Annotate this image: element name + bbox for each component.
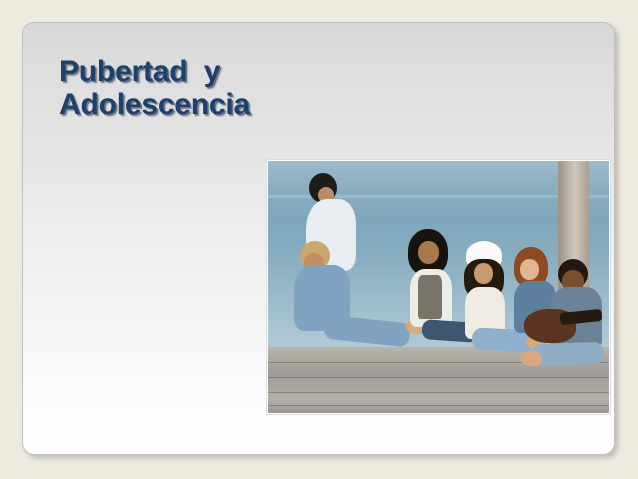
- foot: [520, 351, 542, 366]
- leg: [532, 342, 605, 366]
- face: [474, 263, 493, 284]
- title-line-1: Pubertad y: [59, 55, 479, 88]
- dock-plank: [268, 377, 609, 378]
- patterned-vest: [418, 275, 442, 319]
- dock-plank: [268, 405, 609, 406]
- leg: [323, 315, 411, 348]
- slide-title: Pubertad y Adolescencia: [59, 55, 479, 121]
- person-blond-boy: [294, 241, 414, 366]
- person-guitar-boy: [550, 259, 609, 374]
- photo-teens-on-dock: [268, 161, 609, 413]
- slide-photo: [266, 159, 611, 415]
- slide-canvas: Pubertad y Adolescencia: [0, 0, 638, 479]
- presentation-slide: Pubertad y Adolescencia: [22, 22, 615, 455]
- face: [418, 241, 439, 264]
- dock-plank: [268, 392, 609, 393]
- title-line-2: Adolescencia: [59, 88, 479, 121]
- face: [520, 259, 539, 280]
